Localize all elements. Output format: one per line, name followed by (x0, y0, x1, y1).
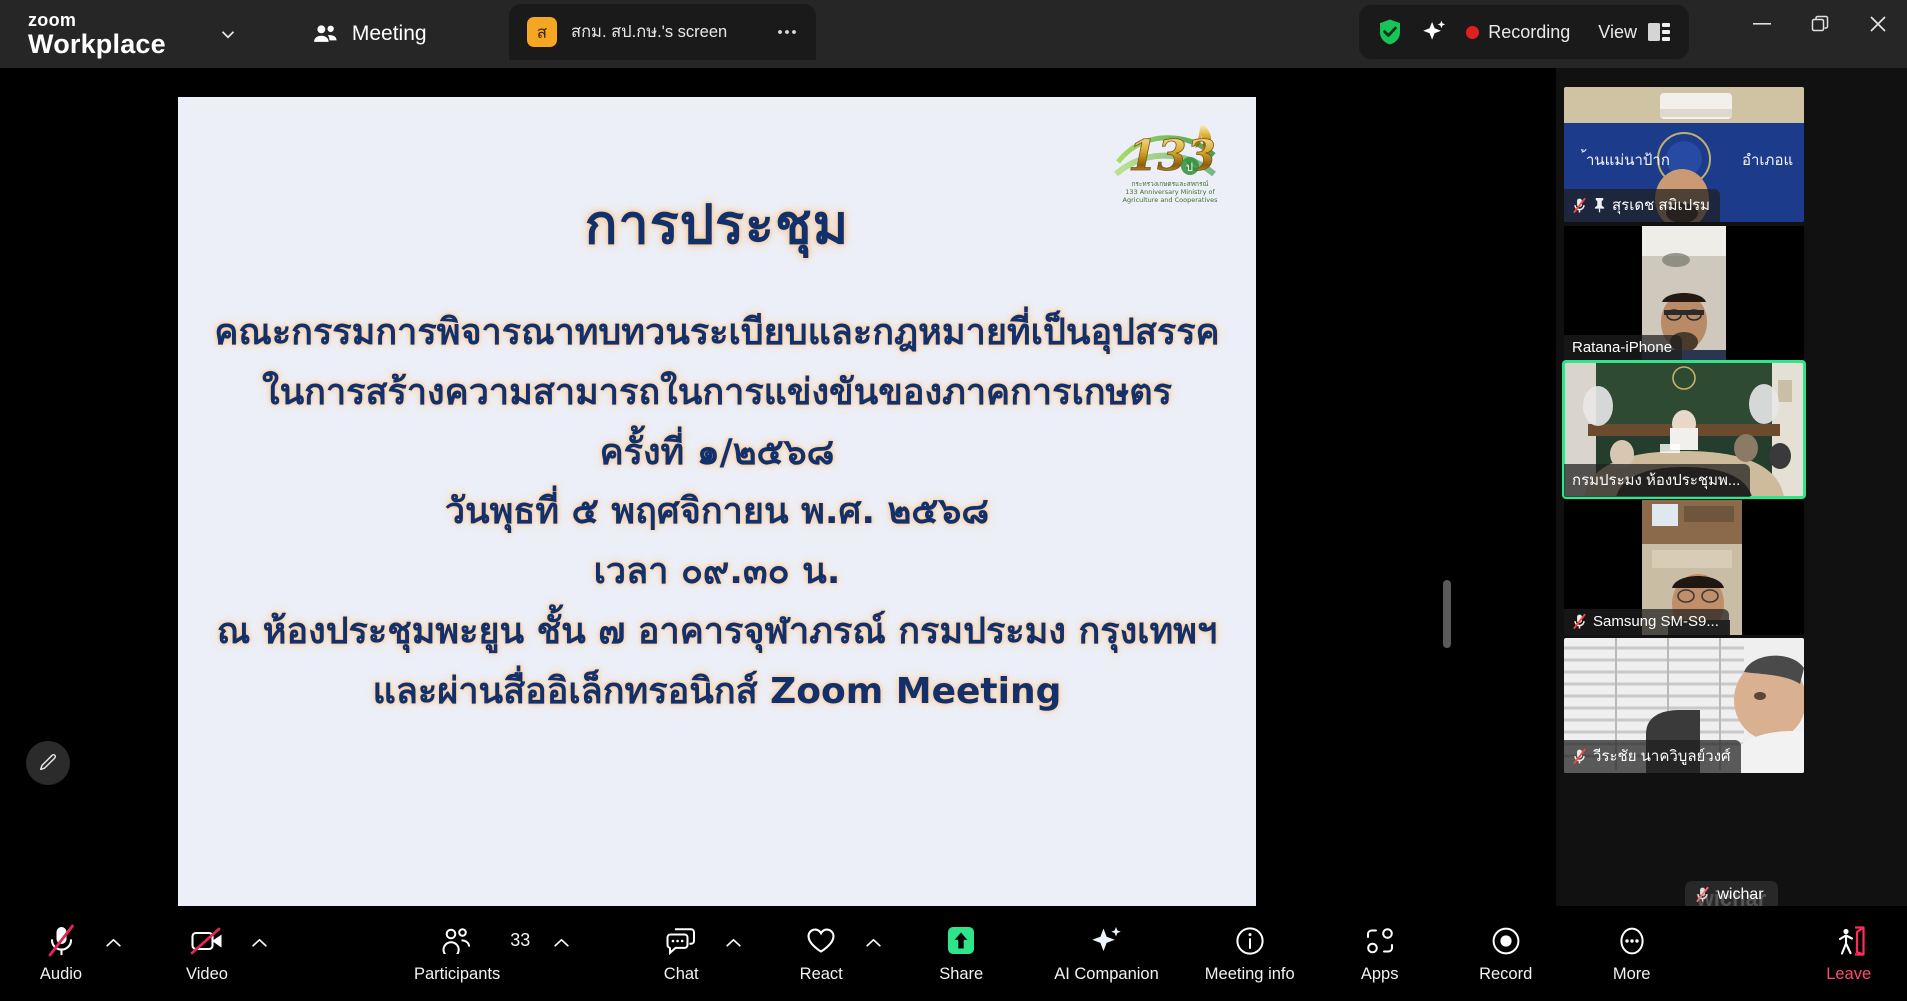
record-circle-icon (1490, 924, 1522, 958)
shared-screen-view[interactable]: 133 ป กระทรวงเกษตรและสหกรณ์ 133 Annivers… (178, 97, 1256, 935)
toolbar-chat-label: Chat (664, 965, 699, 984)
thumbnail-name-badge-4: Samsung SM-S9... (1564, 609, 1729, 635)
toolbar-chat-button[interactable]: Chat (644, 924, 718, 984)
tab-avatar: ส (527, 17, 557, 47)
toolbar-record-button[interactable]: Record (1469, 924, 1543, 984)
toolbar-ai-companion-label: AI Companion (1054, 965, 1159, 984)
toolbar-video-button[interactable]: Video (170, 924, 244, 984)
info-circle-icon (1234, 924, 1266, 958)
chat-bubble-icon (664, 924, 698, 958)
thumbnail-name-4: Samsung SM-S9... (1593, 613, 1719, 630)
restore-button[interactable] (1791, 0, 1849, 48)
slide-line-3: ครั้งที่ ๑/๒๕๖๘ (178, 423, 1256, 483)
meeting-tab-label: Meeting (352, 22, 427, 46)
microphone-muted-icon (1572, 197, 1587, 214)
recording-indicator[interactable]: Recording (1466, 22, 1570, 43)
toolbar-more-label: More (1613, 965, 1651, 984)
participant-thumbnail-3[interactable]: กรมประมง ห้องประชุมพ... (1564, 362, 1804, 497)
participants-options-chevron-icon[interactable] (553, 938, 570, 948)
apps-icon (1363, 924, 1397, 958)
slide-line-5: เวลา ๐๙.๓๐ น. (178, 542, 1256, 602)
annotate-button[interactable] (26, 741, 70, 785)
close-icon (1868, 14, 1888, 34)
slide-text-block: การประชุม คณะกรรมการพิจารณาทบทวนระเบียบแ… (178, 181, 1256, 721)
toolbar-more-button[interactable]: More (1595, 924, 1669, 984)
zoom-workplace-logo: zoom Workplace (28, 11, 166, 58)
camera-muted-icon (189, 924, 225, 958)
toolbar-leave-button[interactable]: Leave (1812, 924, 1886, 984)
thumbnail-name-badge-2: Ratana-iPhone (1564, 335, 1682, 361)
toolbar-react-label: React (800, 965, 843, 984)
window-controls (1733, 0, 1907, 68)
thumbnail-name-badge-1: สุรเดช สมิเปรม (1564, 189, 1720, 222)
svg-text:้านแม่นาป้าก: ้านแม่นาป้าก (1581, 149, 1670, 169)
toolbar-ai-companion-button[interactable]: AI Companion (1054, 924, 1159, 984)
ellipsis-icon (777, 29, 797, 35)
toolbar-video-label: Video (186, 965, 228, 984)
toolbar-apps-label: Apps (1361, 965, 1399, 984)
titlebar-status-cluster: Recording View (1359, 5, 1689, 59)
slide-line-7: และผ่านสื่ออิเล็กทรอนิกส์ Zoom Meeting (178, 662, 1256, 722)
toolbar-share-button[interactable]: Share (924, 924, 998, 984)
chevron-down-icon (217, 23, 239, 45)
layout-icon (1647, 21, 1671, 43)
recording-dot-icon (1466, 26, 1479, 39)
view-button[interactable]: View (1598, 21, 1671, 43)
thumbnail-name-2: Ratana-iPhone (1572, 339, 1672, 356)
close-button[interactable] (1849, 0, 1907, 48)
heart-icon (805, 924, 837, 958)
audio-options-chevron-icon[interactable] (105, 938, 122, 948)
video-options-chevron-icon[interactable] (251, 938, 268, 948)
share-screen-icon (945, 924, 977, 958)
microphone-muted-icon (1695, 886, 1710, 903)
toolbar-share-label: Share (939, 965, 983, 984)
people-icon (312, 23, 340, 45)
pin-icon (1593, 197, 1606, 213)
ellipsis-circle-icon (1616, 924, 1648, 958)
meeting-tab[interactable]: Meeting (298, 16, 441, 52)
toolbar-meeting-info-label: Meeting info (1205, 965, 1295, 984)
svg-text:ป: ป (1186, 161, 1193, 174)
view-label: View (1598, 22, 1637, 43)
leave-door-icon (1831, 924, 1867, 958)
title-bar: zoom Workplace Meeting ส สกม. สป.กษ.'s s… (0, 0, 1907, 68)
toolbar-record-label: Record (1479, 965, 1532, 984)
stage-scrollbar[interactable] (1443, 580, 1451, 648)
participants-count: 33 (510, 930, 530, 951)
slide-title: การประชุม (178, 181, 1256, 267)
participant-thumbnail-4[interactable]: Samsung SM-S9... (1564, 500, 1804, 635)
brand-dropdown-button[interactable] (208, 14, 248, 54)
participant-thumbnail-5[interactable]: วีระชัย นาควิบูลย์วงศ์ (1564, 638, 1804, 773)
chat-options-chevron-icon[interactable] (725, 938, 742, 948)
meeting-stage: 133 ป กระทรวงเกษตรและสหกรณ์ 133 Annivers… (0, 68, 1556, 906)
people-icon (440, 924, 474, 958)
thumbnail-name-3: กรมประมง ห้องประชุมพ... (1572, 468, 1740, 492)
microphone-muted-icon (45, 924, 78, 958)
microphone-muted-icon (1572, 613, 1587, 630)
toolbar-audio-label: Audio (40, 965, 82, 984)
shield-check-icon[interactable] (1377, 18, 1403, 46)
thumbnail-name-badge-5: วีระชัย นาควิบูลย์วงศ์ (1564, 740, 1741, 773)
recording-label: Recording (1488, 22, 1570, 43)
microphone-muted-icon (1572, 748, 1587, 765)
participant-thumbnail-2[interactable]: Ratana-iPhone (1564, 226, 1804, 361)
brand-line-zoom: zoom (28, 11, 166, 29)
ai-sparkle-icon (1090, 924, 1124, 958)
participant-thumbnail-1[interactable]: ้านแม่นาป้าก อำเภอแ สุรเดช สมิเปรม (1564, 87, 1804, 222)
svg-text:133: 133 (1128, 131, 1216, 180)
participant-filmstrip: ้านแม่นาป้าก อำเภอแ สุรเดช สมิเปรม (1556, 68, 1907, 906)
toolbar-apps-button[interactable]: Apps (1343, 924, 1417, 984)
svg-text:อำเภอแ: อำเภอแ (1742, 151, 1793, 169)
presentation-slide: 133 ป กระทรวงเกษตรและสหกรณ์ 133 Annivers… (178, 97, 1256, 917)
react-options-chevron-icon[interactable] (865, 938, 882, 948)
meeting-toolbar: Audio Video Participants 33 (0, 906, 1907, 1001)
thumbnail-name-1: สุรเดช สมิเปรม (1612, 193, 1710, 217)
tab-more-options-button[interactable] (770, 15, 804, 49)
toolbar-participants-label: Participants (414, 965, 500, 984)
pencil-icon (37, 752, 59, 774)
toolbar-meeting-info-button[interactable]: Meeting info (1205, 924, 1295, 984)
restore-window-icon (1810, 14, 1830, 34)
slide-line-2: ในการสร้างความสามารถในการแข่งขันของภาคกา… (178, 363, 1256, 423)
brand-line-workplace: Workplace (28, 31, 166, 58)
thumbnail-name-badge-3: กรมประมง ห้องประชุมพ... (1564, 464, 1750, 497)
toolbar-audio-button[interactable]: Audio (24, 924, 98, 984)
slide-line-4: วันพุธที่ ๕ พฤศจิกายน พ.ศ. ๒๕๖๘ (178, 482, 1256, 542)
tab-shared-screen[interactable]: ส สกม. สป.กษ.'s screen (509, 4, 816, 60)
toolbar-participants-button[interactable]: Participants 33 (414, 924, 500, 984)
slide-line-6: ณ ห้องประชุมพะยูน ชั้น ๗ อาคารจุฬาภรณ์ ก… (178, 602, 1256, 662)
ai-sparkle-icon[interactable] (1421, 18, 1448, 46)
toolbar-react-button[interactable]: React (784, 924, 858, 984)
self-tile-name: wichar (1717, 886, 1763, 904)
slide-line-1: คณะกรรมการพิจารณาทบทวนระเบียบและกฎหมายที… (178, 303, 1256, 363)
minimize-button[interactable] (1733, 0, 1791, 48)
thumbnail-name-5: วีระชัย นาควิบูลย์วงศ์ (1593, 744, 1731, 768)
toolbar-leave-label: Leave (1826, 965, 1871, 984)
tab-title: สกม. สป.กษ.'s screen (571, 19, 756, 45)
